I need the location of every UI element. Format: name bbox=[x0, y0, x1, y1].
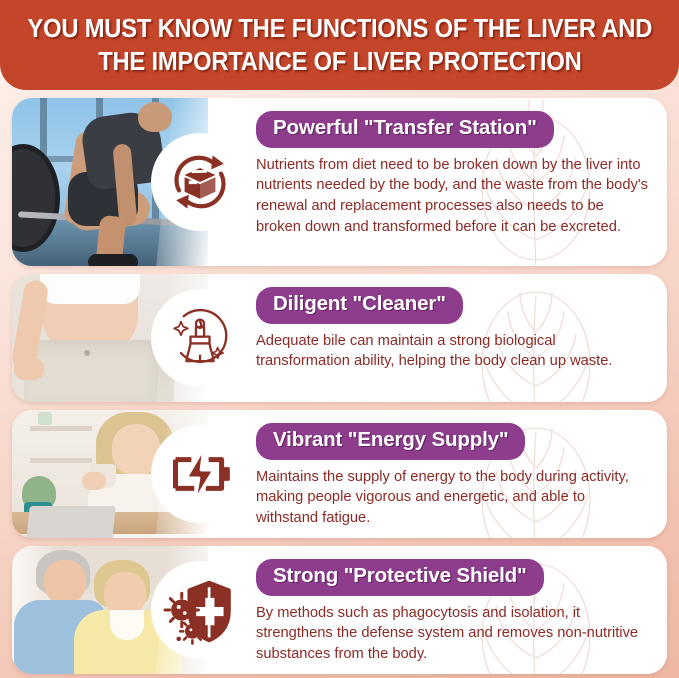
function-card-protective-shield: Strong "Protective Shield" By methods su… bbox=[12, 546, 667, 674]
card-badge-label: Powerful "Transfer Station" bbox=[256, 111, 554, 148]
paintbrush-sparkle-icon bbox=[151, 289, 249, 387]
card-body-cleaner: Diligent "Cleaner" Adequate bile can mai… bbox=[208, 274, 667, 402]
card-description: Adequate bile can maintain a strong biol… bbox=[256, 331, 651, 373]
card-badge-label: Vibrant "Energy Supply" bbox=[256, 423, 525, 460]
card-badge-label: Diligent "Cleaner" bbox=[256, 287, 463, 324]
function-card-energy-supply: Vibrant "Energy Supply" Maintains the su… bbox=[12, 410, 667, 538]
card-description: Maintains the supply of energy to the bo… bbox=[256, 467, 651, 530]
page-title-line-1: YOU MUST KNOW THE FUNCTIONS OF THE LIVER… bbox=[27, 13, 652, 46]
card-description: Nutrients from diet need to be broken do… bbox=[256, 155, 651, 239]
function-card-cleaner: Diligent "Cleaner" Adequate bile can mai… bbox=[12, 274, 667, 402]
card-badge-label: Strong "Protective Shield" bbox=[256, 559, 544, 596]
card-body-transfer-station: Powerful "Transfer Station" Nutrients fr… bbox=[208, 98, 667, 266]
page-header-banner: YOU MUST KNOW THE FUNCTIONS OF THE LIVER… bbox=[0, 0, 679, 90]
shield-cross-virus-icon bbox=[151, 561, 249, 659]
card-body-energy-supply: Vibrant "Energy Supply" Maintains the su… bbox=[208, 410, 667, 538]
function-card-list: Powerful "Transfer Station" Nutrients fr… bbox=[0, 98, 679, 674]
card-body-protective-shield: Strong "Protective Shield" By methods su… bbox=[208, 546, 667, 674]
page-title-line-2: THE IMPORTANCE OF LIVER PROTECTION bbox=[98, 46, 581, 79]
card-description: By methods such as phagocytosis and isol… bbox=[256, 603, 651, 666]
transfer-box-arrows-icon bbox=[151, 133, 249, 231]
battery-lightning-icon bbox=[151, 425, 249, 523]
function-card-transfer-station: Powerful "Transfer Station" Nutrients fr… bbox=[12, 98, 667, 266]
